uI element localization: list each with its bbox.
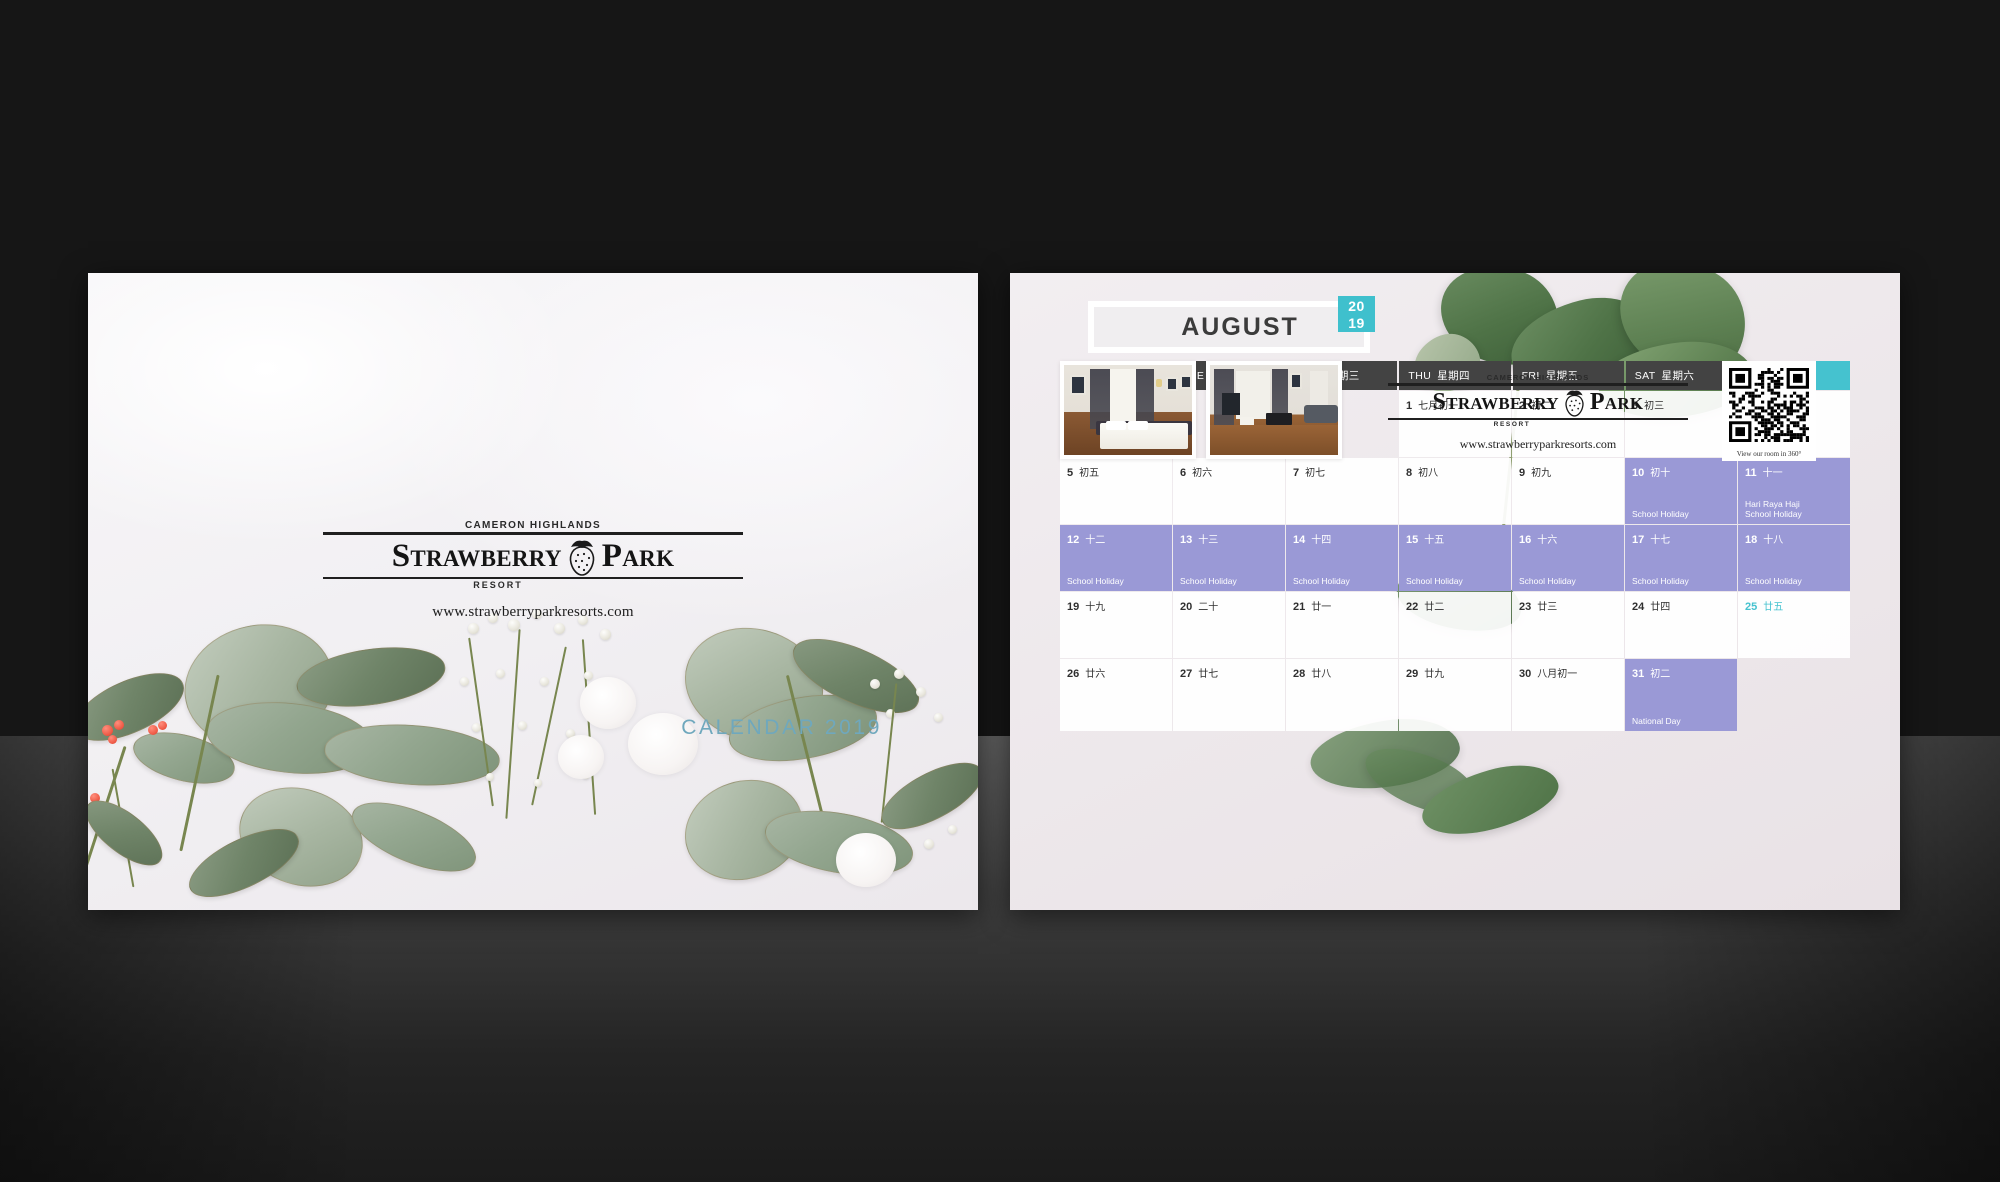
- day-cell-15[interactable]: 15十五School Holiday: [1399, 525, 1511, 591]
- event-line: School Holiday: [1632, 576, 1733, 586]
- day-cell-27[interactable]: 27廿七: [1173, 659, 1285, 731]
- day-lunar-date: 十一: [1763, 468, 1783, 479]
- day-cell-31[interactable]: 31初二National Day: [1625, 659, 1737, 731]
- day-lunar-date: 初六: [1192, 468, 1212, 479]
- day-lunar-date: 十二: [1085, 535, 1105, 546]
- day-cell-18[interactable]: 18十八School Holiday: [1738, 525, 1850, 591]
- day-number: 17: [1632, 534, 1644, 546]
- event-line: School Holiday: [1745, 576, 1846, 586]
- day-event-label: School Holiday: [1745, 576, 1846, 586]
- day-lunar-date: 十七: [1650, 535, 1670, 546]
- hotel-bedroom-photo: [1060, 361, 1196, 459]
- day-cell-12[interactable]: 12十二School Holiday: [1060, 525, 1172, 591]
- day-lunar-date: 廿四: [1650, 602, 1670, 613]
- day-number: 7: [1293, 467, 1299, 479]
- day-cell-14[interactable]: 14十四School Holiday: [1286, 525, 1398, 591]
- footer-logo-rule-bottom: [1388, 418, 1688, 420]
- day-number: 18: [1745, 534, 1757, 546]
- day-number: 9: [1519, 467, 1525, 479]
- day-lunar-date: 初七: [1305, 468, 1325, 479]
- day-cell-30[interactable]: 30八月初一: [1512, 659, 1624, 731]
- year-top: 20: [1338, 298, 1375, 315]
- day-cell-19[interactable]: 19十九: [1060, 592, 1172, 658]
- qr-card[interactable]: View our room in 360°: [1722, 361, 1816, 461]
- day-number: 11: [1745, 467, 1757, 479]
- month-name: AUGUST: [1159, 313, 1299, 342]
- footer-brand-wordmark: Strawberry Park: [1388, 387, 1688, 417]
- day-cell-25[interactable]: 25廿五: [1738, 592, 1850, 658]
- event-line: School Holiday: [1067, 576, 1168, 586]
- day-lunar-date: 廿八: [1311, 669, 1331, 680]
- day-number: 19: [1067, 601, 1079, 613]
- day-lunar-date: 廿七: [1198, 669, 1218, 680]
- footer-brand-top-label: CAMERON HIGHLANDS: [1388, 373, 1688, 382]
- strawberry-icon: [1562, 387, 1587, 417]
- day-lunar-date: 初二: [1650, 669, 1670, 680]
- day-cell-empty: [1738, 659, 1850, 731]
- day-number: 24: [1632, 601, 1644, 613]
- event-line: School Holiday: [1180, 576, 1281, 586]
- living-room-photo-inner: [1210, 365, 1338, 455]
- day-number: 16: [1519, 534, 1531, 546]
- cover-calendar-label: CALENDAR 2019: [681, 716, 882, 740]
- event-line: School Holiday: [1406, 576, 1507, 586]
- day-lunar-date: 初八: [1418, 468, 1438, 479]
- event-line: School Holiday: [1632, 509, 1733, 519]
- brand-wordmark: Strawberry Park: [323, 536, 743, 576]
- brand-word-strawberry: Strawberry: [392, 540, 562, 573]
- footer-brand-word-park: Park: [1590, 390, 1644, 414]
- day-cell-22[interactable]: 22廿二: [1399, 592, 1511, 658]
- day-number: 13: [1180, 534, 1192, 546]
- day-lunar-date: 初十: [1650, 468, 1670, 479]
- day-cell-8[interactable]: 8初八: [1399, 458, 1511, 524]
- footer-brand-logo: CAMERON HIGHLANDS Strawberry Park: [1388, 373, 1688, 452]
- day-lunar-date: 二十: [1198, 602, 1218, 613]
- day-event-label: School Holiday: [1293, 576, 1394, 586]
- year-bottom: 19: [1338, 315, 1375, 332]
- day-cell-13[interactable]: 13十三School Holiday: [1173, 525, 1285, 591]
- day-event-label: School Holiday: [1519, 576, 1620, 586]
- day-lunar-date: 廿九: [1424, 669, 1444, 680]
- day-cell-29[interactable]: 29廿九: [1399, 659, 1511, 731]
- day-cell-16[interactable]: 16十六School Holiday: [1512, 525, 1624, 591]
- day-cell-26[interactable]: 26廿六: [1060, 659, 1172, 731]
- day-lunar-date: 十六: [1537, 535, 1557, 546]
- event-line: National Day: [1632, 716, 1733, 726]
- day-event-label: School Holiday: [1067, 576, 1168, 586]
- cover-brand-logo: CAMERON HIGHLANDS Strawberry Park: [323, 520, 743, 621]
- day-number: 10: [1632, 467, 1644, 479]
- day-cell-28[interactable]: 28廿八: [1286, 659, 1398, 731]
- day-lunar-date: 十八: [1763, 535, 1783, 546]
- event-line: School Holiday: [1293, 576, 1394, 586]
- brand-word-park: Park: [602, 540, 674, 573]
- day-number: 6: [1180, 467, 1186, 479]
- day-number: 8: [1406, 467, 1412, 479]
- logo-rule-top: [323, 532, 743, 535]
- day-lunar-date: 廿三: [1537, 602, 1557, 613]
- day-cell-17[interactable]: 17十七School Holiday: [1625, 525, 1737, 591]
- footer-logo-rule-top: [1388, 383, 1688, 386]
- day-event-label: School Holiday: [1180, 576, 1281, 586]
- day-lunar-date: 廿五: [1763, 602, 1783, 613]
- logo-rule-bottom: [323, 577, 743, 579]
- month-title-inner: AUGUST: [1094, 307, 1364, 347]
- day-lunar-date: 廿一: [1311, 602, 1331, 613]
- day-event-label: Hari Raya HajiSchool Holiday: [1745, 499, 1846, 519]
- brand-sub-label: RESORT: [323, 580, 673, 590]
- day-lunar-date: 初九: [1531, 468, 1551, 479]
- day-event-label: National Day: [1632, 716, 1733, 726]
- qr-caption: View our room in 360°: [1729, 450, 1809, 458]
- day-event-label: School Holiday: [1632, 576, 1733, 586]
- event-line: School Holiday: [1745, 509, 1846, 519]
- day-cell-7[interactable]: 7初七: [1286, 458, 1398, 524]
- day-number: 28: [1293, 668, 1305, 680]
- day-cell-24[interactable]: 24廿四: [1625, 592, 1737, 658]
- day-number: 29: [1406, 668, 1418, 680]
- event-line: School Holiday: [1519, 576, 1620, 586]
- day-cell-20[interactable]: 20二十: [1173, 592, 1285, 658]
- day-cell-10[interactable]: 10初十School Holiday: [1625, 458, 1737, 524]
- day-lunar-date: 十五: [1424, 535, 1444, 546]
- day-event-label: School Holiday: [1632, 509, 1733, 519]
- strawberry-icon: [565, 536, 599, 576]
- day-event-label: School Holiday: [1406, 576, 1507, 586]
- day-lunar-date: 廿六: [1085, 669, 1105, 680]
- day-lunar-date: 十九: [1085, 602, 1105, 613]
- day-number: 27: [1180, 668, 1192, 680]
- day-lunar-date: 廿二: [1424, 602, 1444, 613]
- day-number: 12: [1067, 534, 1079, 546]
- day-number: 23: [1519, 601, 1531, 613]
- calendar-page: AUGUST 20 19 MON星期一TUE星期二WED星期三THU星期四FRI…: [1010, 273, 1900, 910]
- bedroom-photo-inner: [1064, 365, 1192, 455]
- qr-code-icon[interactable]: [1729, 368, 1809, 442]
- day-number: 5: [1067, 467, 1073, 479]
- day-number: 26: [1067, 668, 1079, 680]
- day-number: 21: [1293, 601, 1305, 613]
- brand-top-label: CAMERON HIGHLANDS: [323, 520, 743, 531]
- cover-page: CAMERON HIGHLANDS Strawberry Park: [88, 273, 978, 910]
- footer-brand-sub-label: RESORT: [1388, 421, 1636, 428]
- year-badge: 20 19: [1338, 296, 1375, 332]
- footer-brand-word-strawberry: Strawberry: [1433, 390, 1559, 414]
- day-cell-9[interactable]: 9初九: [1512, 458, 1624, 524]
- day-number: 30: [1519, 668, 1531, 680]
- month-title-box: AUGUST: [1088, 301, 1370, 353]
- hotel-living-room-photo: [1206, 361, 1342, 459]
- day-cell-11[interactable]: 11十一Hari Raya HajiSchool Holiday: [1738, 458, 1850, 524]
- day-number: 22: [1406, 601, 1418, 613]
- day-cell-6[interactable]: 6初六: [1173, 458, 1285, 524]
- day-cell-21[interactable]: 21廿一: [1286, 592, 1398, 658]
- cover-website-url[interactable]: www.strawberryparkresorts.com: [323, 604, 743, 621]
- day-number: 25: [1745, 601, 1757, 613]
- event-line: Hari Raya Haji: [1745, 499, 1846, 509]
- day-number: 31: [1632, 668, 1644, 680]
- day-number: 14: [1293, 534, 1305, 546]
- day-cell-5[interactable]: 5初五: [1060, 458, 1172, 524]
- day-lunar-date: 十四: [1311, 535, 1331, 546]
- day-number: 15: [1406, 534, 1418, 546]
- day-lunar-date: 初五: [1079, 468, 1099, 479]
- day-number: 20: [1180, 601, 1192, 613]
- footer-website-url[interactable]: www.strawberryparkresorts.com: [1388, 437, 1688, 452]
- day-lunar-date: 十三: [1198, 535, 1218, 546]
- day-cell-23[interactable]: 23廿三: [1512, 592, 1624, 658]
- day-lunar-date: 八月初一: [1537, 669, 1577, 680]
